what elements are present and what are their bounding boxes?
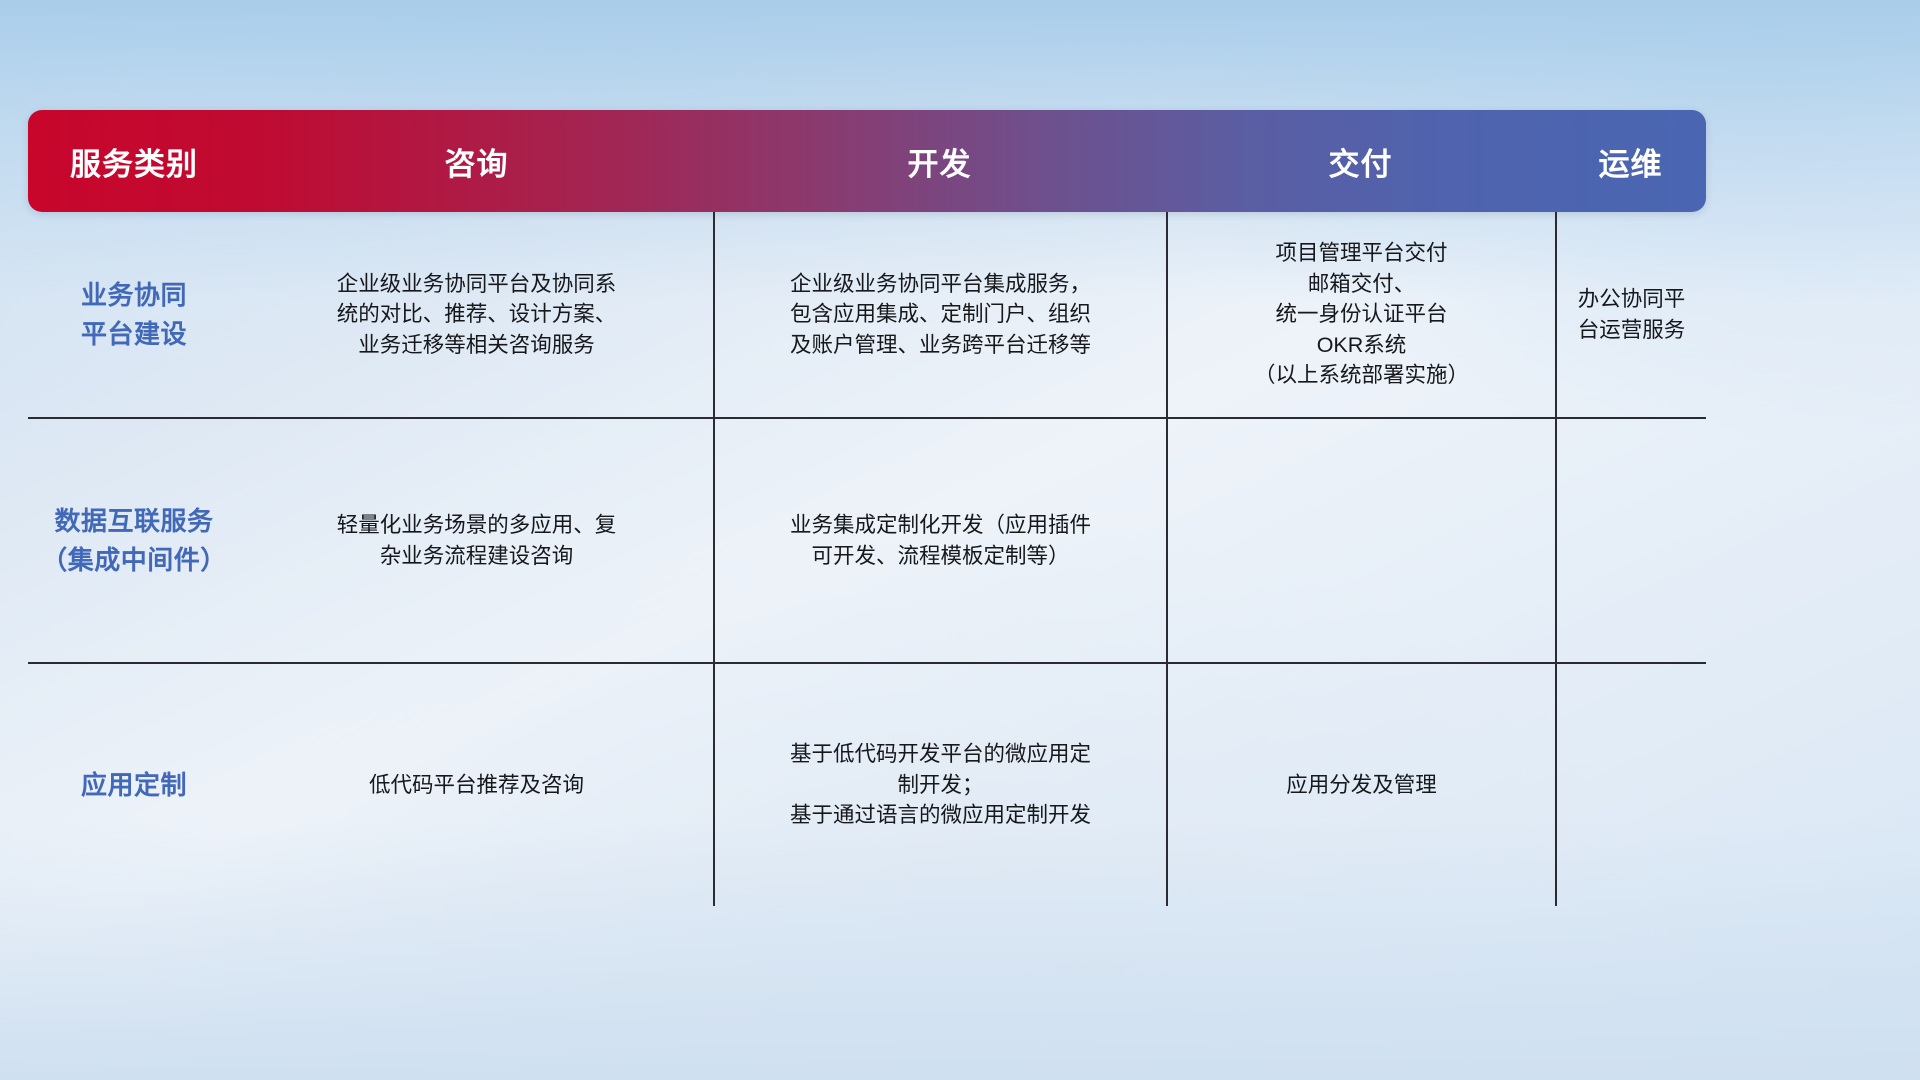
table-row: 数据互联服务 （集成中间件） 轻量化业务场景的多应用、复 杂业务流程建设咨询 业… — [28, 417, 1706, 662]
table-body: 业务协同 平台建设 企业级业务协同平台及协同系 统的对比、推荐、设计方案、 业务… — [28, 212, 1706, 906]
column-header-delivery[interactable]: 交付 — [1166, 110, 1555, 212]
row-1-operations: 办公协同平台运营服务 — [1555, 212, 1706, 417]
row-3-consulting: 低代码平台推荐及咨询 — [240, 758, 713, 813]
row-3-category: 应用定制 — [28, 756, 240, 815]
service-category-table: 服务类别 咨询 开发 交付 运维 业务协同 平台建设 企业级业务协同平台及协同系… — [28, 110, 1706, 906]
row-3-operations — [1555, 664, 1706, 906]
row-2-operations — [1555, 419, 1706, 662]
row-1-category: 业务协同 平台建设 — [28, 266, 240, 364]
table-header-row: 服务类别 咨询 开发 交付 运维 — [28, 110, 1706, 212]
table-row: 应用定制 低代码平台推荐及咨询 基于低代码开发平台的微应用定 制开发； 基于通过… — [28, 662, 1706, 906]
row-3-development: 基于低代码开发平台的微应用定 制开发； 基于通过语言的微应用定制开发 — [713, 664, 1166, 906]
table-row: 业务协同 平台建设 企业级业务协同平台及协同系 统的对比、推荐、设计方案、 业务… — [28, 212, 1706, 417]
column-header-operations[interactable]: 运维 — [1555, 110, 1706, 212]
row-2-delivery — [1166, 419, 1555, 662]
row-1-category-and-consulting-group: 业务协同 平台建设 企业级业务协同平台及协同系 统的对比、推荐、设计方案、 业务… — [28, 212, 713, 417]
row-3-category-and-consulting-group: 应用定制 低代码平台推荐及咨询 — [28, 664, 713, 906]
column-header-development[interactable]: 开发 — [713, 110, 1166, 212]
row-2-category-and-consulting-group: 数据互联服务 （集成中间件） 轻量化业务场景的多应用、复 杂业务流程建设咨询 — [28, 419, 713, 662]
row-2-consulting: 轻量化业务场景的多应用、复 杂业务流程建设咨询 — [240, 498, 713, 583]
row-3-delivery: 应用分发及管理 — [1166, 664, 1555, 906]
row-2-development: 业务集成定制化开发（应用插件 可开发、流程模板定制等） — [713, 419, 1166, 662]
row-1-delivery: 项目管理平台交付 邮箱交付、 统一身份认证平台 OKR系统 （以上系统部署实施） — [1166, 212, 1555, 417]
column-header-consulting[interactable]: 咨询 — [240, 110, 713, 212]
row-1-consulting: 企业级业务协同平台及协同系 统的对比、推荐、设计方案、 业务迁移等相关咨询服务 — [240, 257, 713, 373]
row-1-development: 企业级业务协同平台集成服务， 包含应用集成、定制门户、组织 及账户管理、业务跨平… — [713, 212, 1166, 417]
slide-canvas: 服务类别 咨询 开发 交付 运维 业务协同 平台建设 企业级业务协同平台及协同系… — [0, 0, 1920, 1080]
row-2-category: 数据互联服务 （集成中间件） — [28, 492, 240, 590]
column-header-service-category[interactable]: 服务类别 — [28, 110, 240, 212]
